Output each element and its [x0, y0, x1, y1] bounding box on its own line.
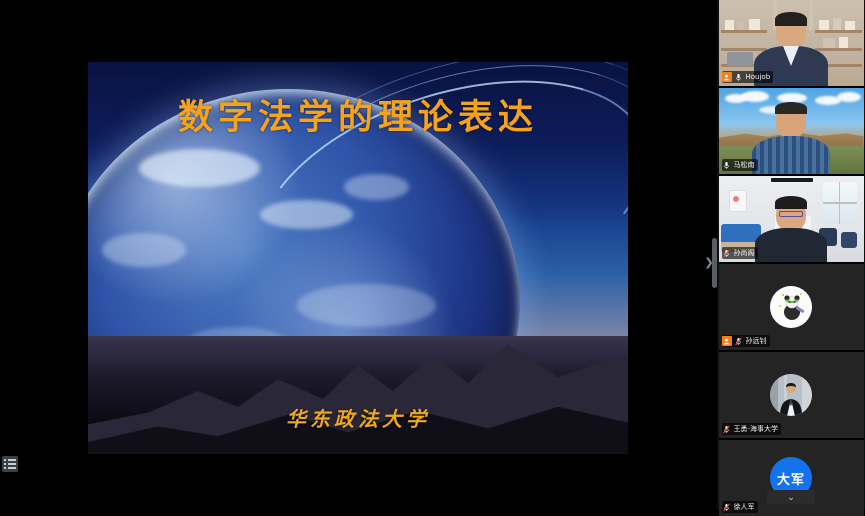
participant-name-tag: 王勇-海事大学 [722, 423, 782, 435]
participant-tile[interactable]: 王勇-海事大学 [719, 352, 864, 440]
participant-filmstrip[interactable]: Houjob [717, 0, 865, 510]
participant-tile[interactable]: 大军 徐人军 ⌄ [719, 440, 864, 516]
microphone-icon [722, 160, 732, 171]
participant-tile[interactable]: 孙远钊 [719, 264, 864, 352]
avatar [770, 286, 812, 328]
microphone-muted-icon [734, 336, 744, 347]
chevron-down-icon[interactable]: ⌄ [767, 490, 815, 504]
microphone-muted-icon [722, 424, 732, 435]
filmstrip-scroll-down[interactable]: ⌄ [719, 490, 864, 504]
zoom-meeting-window: 数字法学的理论表达 华东政法大学 ❯ [0, 0, 865, 510]
host-person-icon [722, 72, 732, 82]
participant-name: Houjob [746, 71, 771, 83]
participant-name: 马松南 [734, 159, 755, 171]
avatar [770, 374, 812, 416]
participant-name-tag: 马松南 [722, 159, 758, 171]
list-icon[interactable] [2, 456, 18, 472]
chevron-right-icon[interactable]: ❯ [703, 252, 715, 274]
host-person-icon [722, 336, 732, 346]
participant-tile[interactable]: 孙尚阁 [719, 176, 864, 264]
participant-tile[interactable]: 马松南 [719, 88, 864, 176]
microphone-muted-icon [722, 248, 732, 259]
participant-tile[interactable]: Houjob [719, 0, 864, 88]
slide-title: 数字法学的理论表达 [88, 89, 628, 140]
participant-name-tag: 孙尚阁 [722, 247, 758, 259]
participant-name-tag: 孙远钊 [722, 335, 770, 347]
microphone-icon [734, 72, 744, 83]
presentation-slide[interactable]: 数字法学的理论表达 华东政法大学 [88, 62, 628, 454]
participant-name: 孙尚阁 [734, 247, 755, 259]
shared-content-stage[interactable]: 数字法学的理论表达 华东政法大学 [0, 0, 717, 510]
participant-name-tag: Houjob [722, 71, 774, 83]
participant-name: 孙远钊 [746, 335, 767, 347]
slide-footer: 华东政法大学 [88, 403, 628, 432]
participant-name: 王勇-海事大学 [734, 423, 779, 435]
